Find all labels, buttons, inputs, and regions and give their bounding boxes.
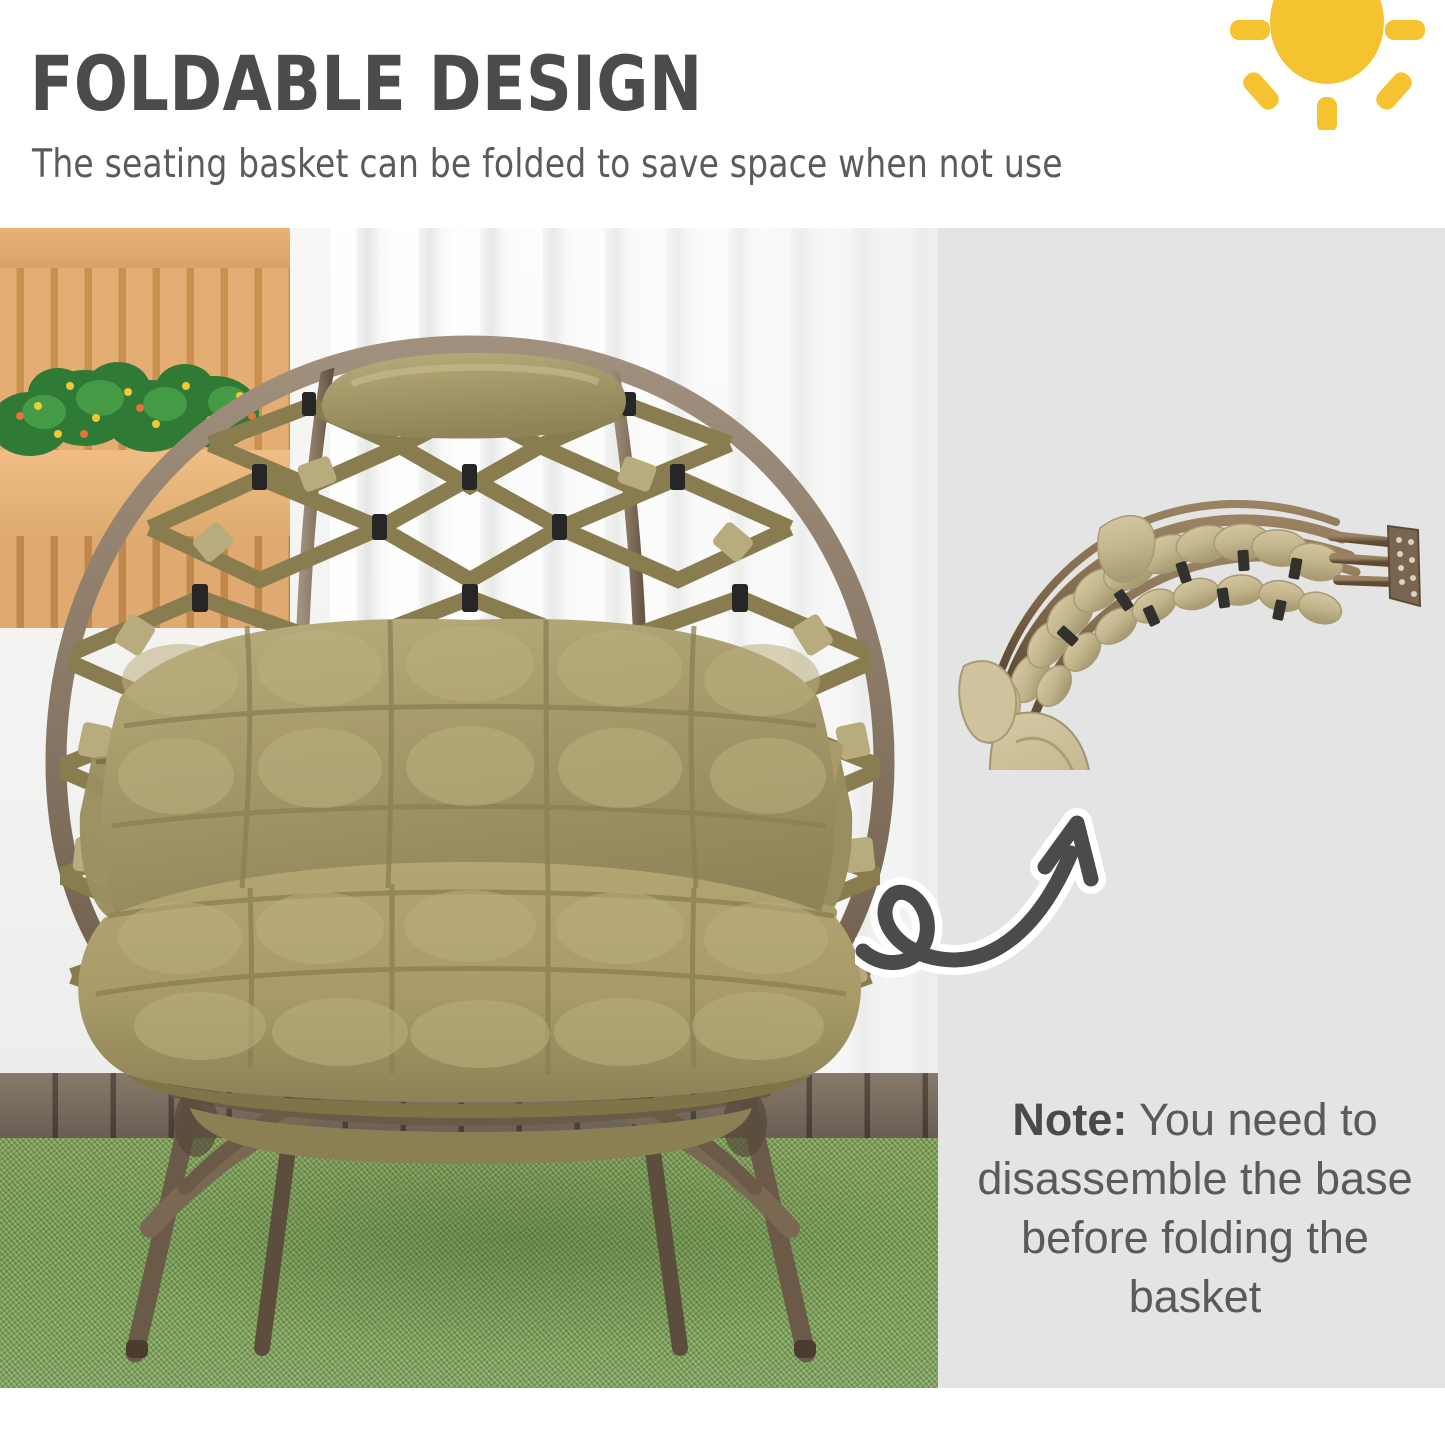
curved-loop-arrow-icon	[855, 775, 1125, 990]
infographic-root: FOLDABLE DESIGN The seating basket can b…	[0, 0, 1445, 1445]
basket-chair	[0, 228, 938, 1388]
note-label: Note:	[1012, 1094, 1127, 1145]
sun-icon	[1222, 0, 1432, 130]
seat-cushion	[78, 619, 861, 1118]
folded-basket-product	[950, 430, 1440, 770]
product-photo-chair	[0, 228, 938, 1388]
page-subtitle: The seating basket can be folded to save…	[32, 143, 1063, 187]
header-band: FOLDABLE DESIGN The seating basket can b…	[0, 0, 1445, 228]
headrest-cushion	[322, 353, 626, 439]
note-text: Note: You need to disassemble the base b…	[960, 1090, 1430, 1326]
page-title: FOLDABLE DESIGN	[30, 44, 703, 124]
